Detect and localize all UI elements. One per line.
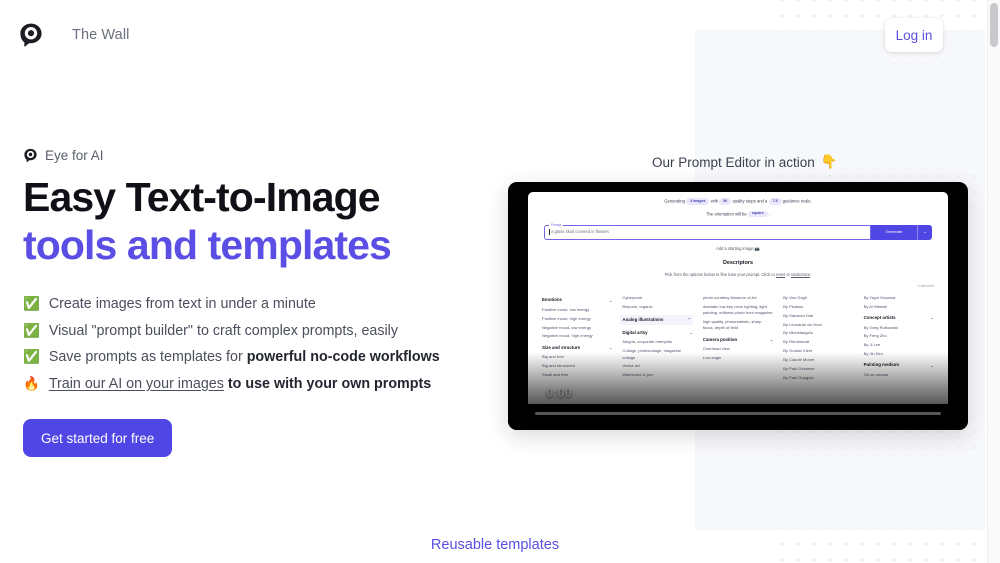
get-started-button[interactable]: Get started for free — [23, 419, 172, 457]
descriptor-option[interactable]: Negative mood, low energy — [542, 325, 612, 331]
descriptor-option[interactable]: By Leonardo da Vinci — [783, 322, 853, 328]
selected-count: 0 selected — [528, 284, 934, 290]
guidance-scale-chip[interactable]: 7.5 — [769, 198, 782, 205]
prompt-input[interactable]: Prompt a glass skull covered in flowers — [544, 225, 871, 240]
list-item: ✅ Save prompts as templates for powerful… — [23, 344, 503, 371]
chevron-icon: ⌃ — [687, 317, 690, 323]
generating-suffix: guidance scale. — [783, 198, 812, 203]
dot — [941, 398, 943, 400]
reset-link[interactable]: reset — [776, 272, 785, 277]
descriptor-option[interactable]: By Claude Monet — [783, 357, 853, 363]
descriptor-option[interactable]: Overhead view — [703, 346, 773, 352]
eye-speech-bubble-logo-icon[interactable] — [18, 22, 44, 48]
editor-caption-label: Our Prompt Editor in action — [652, 155, 815, 170]
chevron-icon: ⌄ — [689, 330, 692, 336]
feature-list: ✅ Create images from text in under a min… — [23, 291, 503, 397]
generate-button[interactable]: Generate — [871, 225, 917, 240]
generating-mid-2: quality steps and a — [732, 198, 767, 203]
descriptor-group-header[interactable]: Size and structure⌄ — [542, 345, 612, 352]
orientation-prefix: The orientation will be — [706, 211, 747, 216]
descriptor-option[interactable]: Positive mood, low energy — [542, 307, 612, 313]
login-button[interactable]: Log in — [885, 18, 943, 52]
site-header: The Wall — [0, 0, 987, 70]
video-progress-bar[interactable] — [535, 412, 941, 415]
more-options-icon[interactable] — [940, 384, 944, 400]
descriptor-option[interactable]: By Greg Rutkowski — [864, 325, 934, 331]
descriptor-option[interactable]: By Paul Gauguin — [783, 375, 853, 381]
orientation-suffix: . — [769, 211, 770, 216]
feature-text: Save prompts as templates for powerful n… — [49, 345, 440, 371]
descriptor-option[interactable]: By Van Gogh — [783, 295, 853, 301]
video-controls — [508, 404, 968, 430]
hero-section: Eye for AI Easy Text-to-Image tools and … — [23, 148, 503, 457]
descriptor-option[interactable]: photo courtesy Museum of Art — [703, 295, 773, 301]
descriptor-option[interactable]: Watercolor & pen — [622, 372, 692, 378]
page-title: Easy Text-to-Image tools and templates — [23, 174, 503, 269]
headline-line-2: tools and templates — [23, 222, 503, 270]
chevron-icon: ⌄ — [931, 363, 934, 369]
descriptor-option[interactable]: Low angle — [703, 355, 773, 361]
dot — [941, 384, 943, 386]
chevron-icon: ⌄ — [609, 345, 612, 351]
brand-name[interactable]: The Wall — [72, 27, 129, 43]
generating-summary: Generating 4 images with 50 quality step… — [528, 198, 948, 205]
editor-caption: Our Prompt Editor in action 👇 — [652, 154, 838, 170]
descriptor-group-header[interactable]: Concept artists⌄ — [864, 315, 934, 322]
headline-line-1: Easy Text-to-Image — [23, 174, 380, 220]
orientation-chip[interactable]: square — [748, 211, 768, 218]
descriptor-option[interactable]: Negative mood, high energy — [542, 333, 612, 339]
descriptor-group-title: Digital artsy — [622, 330, 647, 337]
descriptor-option[interactable]: By Paul Cézanne — [783, 366, 853, 372]
scrollbar-thumb[interactable] — [990, 3, 998, 47]
check-mark-icon: ✅ — [23, 344, 40, 370]
text-caret — [549, 229, 550, 235]
chevron-icon: ⌄ — [770, 337, 773, 343]
reusable-templates-link[interactable]: Reusable templates — [0, 537, 990, 553]
randomize-link[interactable]: randomize — [791, 272, 810, 277]
prompt-input-label: Prompt — [549, 223, 563, 228]
hero-eyebrow: Eye for AI — [23, 148, 503, 163]
play-icon[interactable] — [529, 386, 537, 396]
descriptor-group-header[interactable]: Analog illustrations⌃ — [620, 315, 692, 325]
add-starting-image[interactable]: Add a starting image 📷 — [528, 246, 948, 252]
video-frame-content: Generating 4 images with 50 quality step… — [528, 192, 948, 404]
images-count-chip[interactable]: 4 images — [686, 198, 709, 205]
quality-steps-chip[interactable]: 50 — [719, 198, 731, 205]
descriptor-group-header[interactable]: Emotions⌄ — [542, 297, 612, 304]
descriptor-option[interactable]: By Jin Kim — [864, 351, 934, 357]
descriptor-group-title: Size and structure — [542, 345, 580, 352]
fullscreen-icon[interactable] — [900, 385, 912, 397]
fire-icon: 🔥 — [23, 371, 40, 397]
descriptor-option[interactable]: Collage, photocollage, magazine collage — [622, 348, 692, 361]
prompt-row: Prompt a glass skull covered in flowers … — [544, 225, 932, 240]
descriptor-option[interactable]: By Feng Zhu — [864, 333, 934, 339]
descriptor-group-header[interactable]: Digital artsy⌄ — [622, 330, 692, 337]
chevron-icon: ⌄ — [609, 298, 612, 304]
descriptor-group-title: Analog illustrations — [622, 317, 663, 324]
descriptor-column: photo courtesy Museum of Artdramatic low… — [703, 292, 773, 383]
descriptor-option[interactable]: By Rembrandt — [783, 339, 853, 345]
generating-prefix: Generating — [664, 198, 685, 203]
descriptor-column: CyberpunkBiopunk, organicAnalog illustra… — [622, 292, 692, 383]
descriptor-option[interactable]: By Gustav Klimt — [783, 348, 853, 354]
descriptor-option[interactable]: dramatic low-key neon lighting, light pa… — [703, 304, 773, 317]
list-item: 🔥 Train our AI on your images to use wit… — [23, 371, 503, 398]
descriptor-group-title: Concept artists — [864, 315, 896, 322]
check-mark-icon: ✅ — [23, 318, 40, 344]
descriptor-option[interactable]: Positive mood, high energy — [542, 316, 612, 322]
descriptors-sub-prefix: Pick from the options below to fine tune… — [665, 272, 776, 277]
descriptor-option[interactable]: Cyberpunk — [622, 295, 692, 301]
descriptor-column: Emotions⌄Positive mood, low energyPositi… — [542, 292, 612, 383]
descriptor-option[interactable]: Vector art — [622, 363, 692, 369]
list-item: ✅ Create images from text in under a min… — [23, 291, 503, 318]
descriptor-option[interactable]: By Michelangelo — [783, 330, 853, 336]
feature-text-bold: to use with your own prompts — [224, 376, 431, 392]
descriptor-option[interactable]: Alegria, corporate memphis — [622, 339, 692, 345]
chevron-down-icon[interactable]: ⌄ — [917, 225, 932, 240]
descriptors-sub-suffix: . — [810, 272, 811, 277]
descriptors-subtitle: Pick from the options below to fine tune… — [528, 272, 948, 278]
descriptor-option[interactable]: By Salvador Dali — [783, 313, 853, 319]
feature-text-bold: powerful no-code workflows — [247, 349, 440, 365]
page-scrollbar[interactable] — [987, 0, 1000, 563]
descriptor-option[interactable]: high quality, photorealistic, sharp focu… — [703, 319, 773, 332]
descriptor-option[interactable]: By Ji Lee — [864, 342, 934, 348]
camera-icon: 📷 — [755, 246, 760, 251]
descriptor-group-header[interactable]: Camera position⌄ — [703, 337, 773, 344]
orientation-summary: The orientation will be square . — [528, 211, 948, 218]
descriptor-column: By Yayoi KusamaBy Ai WeiweiConcept artis… — [864, 292, 934, 383]
descriptor-option[interactable]: Big and structured — [542, 363, 612, 369]
feature-text: Train our AI on your images to use with … — [49, 372, 431, 398]
descriptor-group-title: Painting medium — [864, 362, 899, 369]
descriptor-option[interactable]: Oil on canvas — [864, 372, 934, 378]
descriptor-option[interactable]: By Picasso — [783, 304, 853, 310]
feature-text: Create images from text in under a minut… — [49, 292, 316, 318]
feature-text: Visual "prompt builder" to craft complex… — [49, 319, 398, 345]
descriptor-columns: Emotions⌄Positive mood, low energyPositi… — [528, 292, 948, 383]
descriptor-column: By Van GoghBy PicassoBy Salvador DaliBy … — [783, 292, 853, 383]
pointing-down-hand-icon: 👇 — [821, 154, 838, 170]
check-mark-icon: ✅ — [23, 291, 40, 317]
product-demo-video[interactable]: Generating 4 images with 50 quality step… — [508, 182, 968, 430]
muted-speaker-icon[interactable] — [870, 386, 884, 398]
prompt-input-value: a glass skull covered in flowers — [551, 229, 609, 236]
chevron-icon: ⌄ — [931, 315, 934, 321]
descriptors-title: Descriptors — [528, 259, 948, 267]
descriptor-option[interactable]: Big and free — [542, 354, 612, 360]
eye-icon — [23, 148, 38, 163]
landing-page: The Wall Log in Eye for AI Easy Text-to-… — [0, 0, 1000, 563]
hero-eyebrow-label: Eye for AI — [45, 148, 104, 163]
train-ai-link[interactable]: Train our AI on your images — [49, 376, 224, 392]
generating-mid: with — [711, 198, 718, 203]
descriptor-group-header[interactable]: Painting medium⌄ — [864, 362, 934, 369]
descriptor-option[interactable]: By Ai Weiwei — [864, 304, 934, 310]
descriptor-option[interactable]: Biopunk, organic — [622, 304, 692, 310]
dot — [941, 391, 943, 393]
descriptor-option[interactable]: Small and free — [542, 372, 612, 378]
add-starting-image-label: Add a starting image — [716, 246, 754, 251]
descriptor-group-title: Camera position — [703, 337, 737, 344]
video-time: 0:00 — [546, 385, 572, 400]
descriptor-option[interactable]: By Yayoi Kusama — [864, 295, 934, 301]
descriptor-group-title: Emotions — [542, 297, 562, 304]
list-item: ✅ Visual "prompt builder" to craft compl… — [23, 318, 503, 345]
